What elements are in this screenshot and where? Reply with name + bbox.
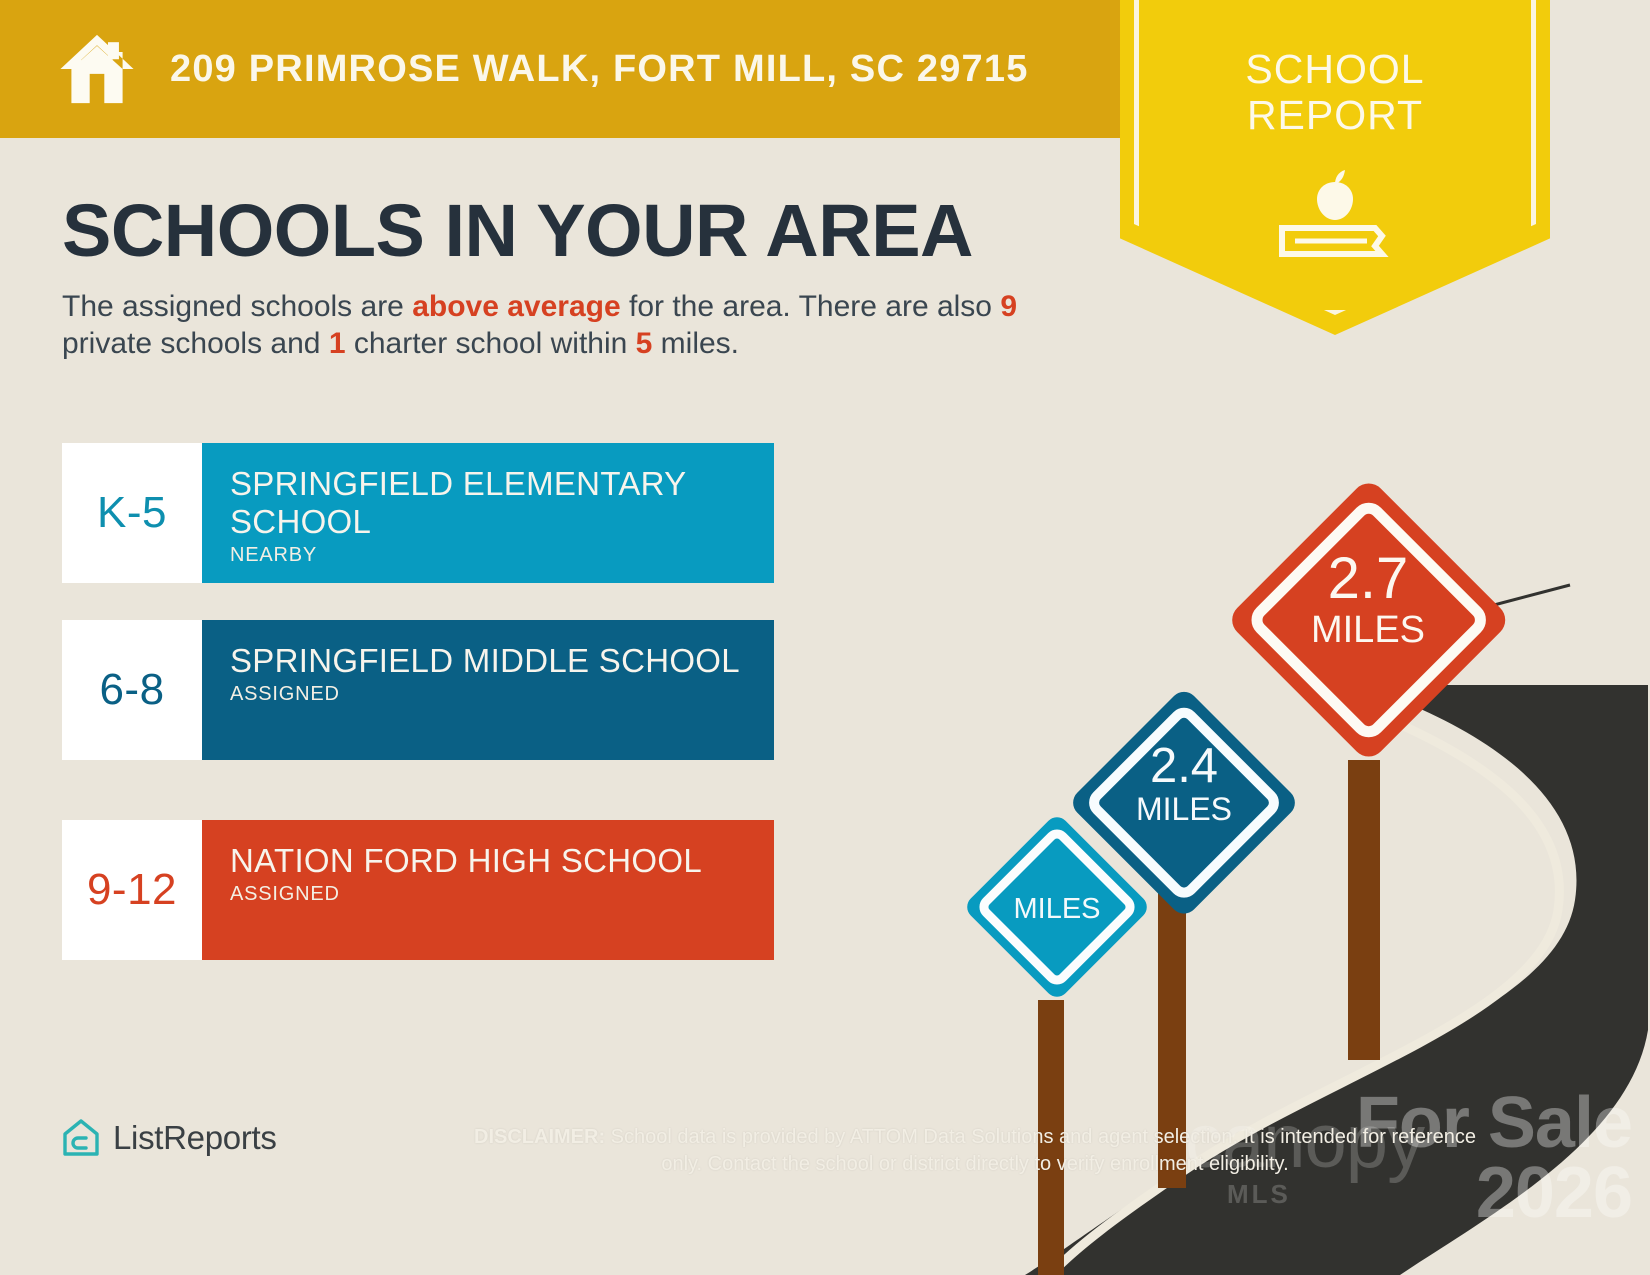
sign-distance-unit: MILES — [1311, 609, 1425, 651]
school-info-bar: NATION FORD HIGH SCHOOL ASSIGNED — [202, 820, 774, 960]
school-name: SPRINGFIELD ELEMENTARY SCHOOL — [230, 465, 774, 541]
grade-range-label: 9-12 — [87, 865, 177, 915]
sign-distance-unit: MILES — [1013, 893, 1100, 925]
header-bar: 209 PRIMROSE WALK, FORT MILL, SC 29715 — [0, 0, 1243, 138]
school-row-middle[interactable]: 6-8 SPRINGFIELD MIDDLE SCHOOL ASSIGNED — [62, 620, 774, 760]
sign-distance-value: 2.4 — [1150, 739, 1218, 793]
sign-distance-value: 2.7 — [1328, 546, 1409, 611]
sign-distance-unit: MILES — [1136, 791, 1232, 827]
school-info-bar: SPRINGFIELD MIDDLE SCHOOL ASSIGNED — [202, 620, 774, 760]
page-title: SCHOOLS IN YOUR AREA — [62, 188, 973, 273]
summary-part-4: charter school within — [346, 327, 636, 360]
school-info-bar: SPRINGFIELD ELEMENTARY SCHOOL NEARBY — [202, 443, 774, 583]
school-name: NATION FORD HIGH SCHOOL — [230, 842, 774, 880]
summary-part-2: for the area. There are also — [621, 290, 1001, 323]
disclaimer-text: DISCLAIMER: School data is provided by A… — [460, 1124, 1490, 1178]
grade-range-box: 9-12 — [62, 820, 202, 960]
grade-range-box: K-5 — [62, 443, 202, 583]
school-status-badge: ASSIGNED — [230, 683, 774, 706]
summary-highlight-radius: 5 — [636, 327, 653, 360]
summary-highlight-charter-count: 1 — [329, 327, 346, 360]
distance-sign-teal: MILES — [930, 470, 1152, 1002]
grade-range-label: 6-8 — [99, 665, 164, 715]
disclaimer-label: DISCLAIMER: — [474, 1126, 605, 1148]
badge-title: SCHOOL REPORT — [1120, 46, 1550, 138]
summary-highlight-rating: above average — [412, 290, 620, 323]
school-status-badge: ASSIGNED — [230, 883, 774, 906]
disclaimer-body: School data is provided by ATTOM Data So… — [605, 1126, 1476, 1175]
apple-and-book-icon — [1255, 158, 1415, 268]
school-status-badge: NEARBY — [230, 544, 774, 567]
school-name: SPRINGFIELD MIDDLE SCHOOL — [230, 642, 774, 680]
badge-line-1: SCHOOL — [1120, 46, 1550, 92]
summary-part-5: miles. — [652, 327, 739, 360]
summary-highlight-private-count: 9 — [1000, 290, 1017, 323]
listreports-logo-text: ListReports — [113, 1119, 277, 1157]
school-row-high[interactable]: 9-12 NATION FORD HIGH SCHOOL ASSIGNED — [62, 820, 774, 960]
school-report-infographic: 209 PRIMROSE WALK, FORT MILL, SC 29715 S… — [0, 0, 1650, 1275]
listreports-logo[interactable]: ListReports — [62, 1118, 277, 1158]
sign-post-far — [1348, 760, 1380, 1060]
summary-part-3: private schools and — [62, 327, 329, 360]
summary-part-1: The assigned schools are — [62, 290, 412, 323]
grade-range-box: 6-8 — [62, 620, 202, 760]
school-row-elementary[interactable]: K-5 SPRINGFIELD ELEMENTARY SCHOOL NEARBY — [62, 443, 774, 583]
badge-line-2: REPORT — [1120, 92, 1550, 138]
grade-range-label: K-5 — [97, 488, 167, 538]
home-icon — [58, 32, 136, 106]
summary-text: The assigned schools are above average f… — [62, 288, 1092, 362]
house-outline-icon — [62, 1118, 100, 1158]
property-address: 209 PRIMROSE WALK, FORT MILL, SC 29715 — [170, 48, 1029, 91]
